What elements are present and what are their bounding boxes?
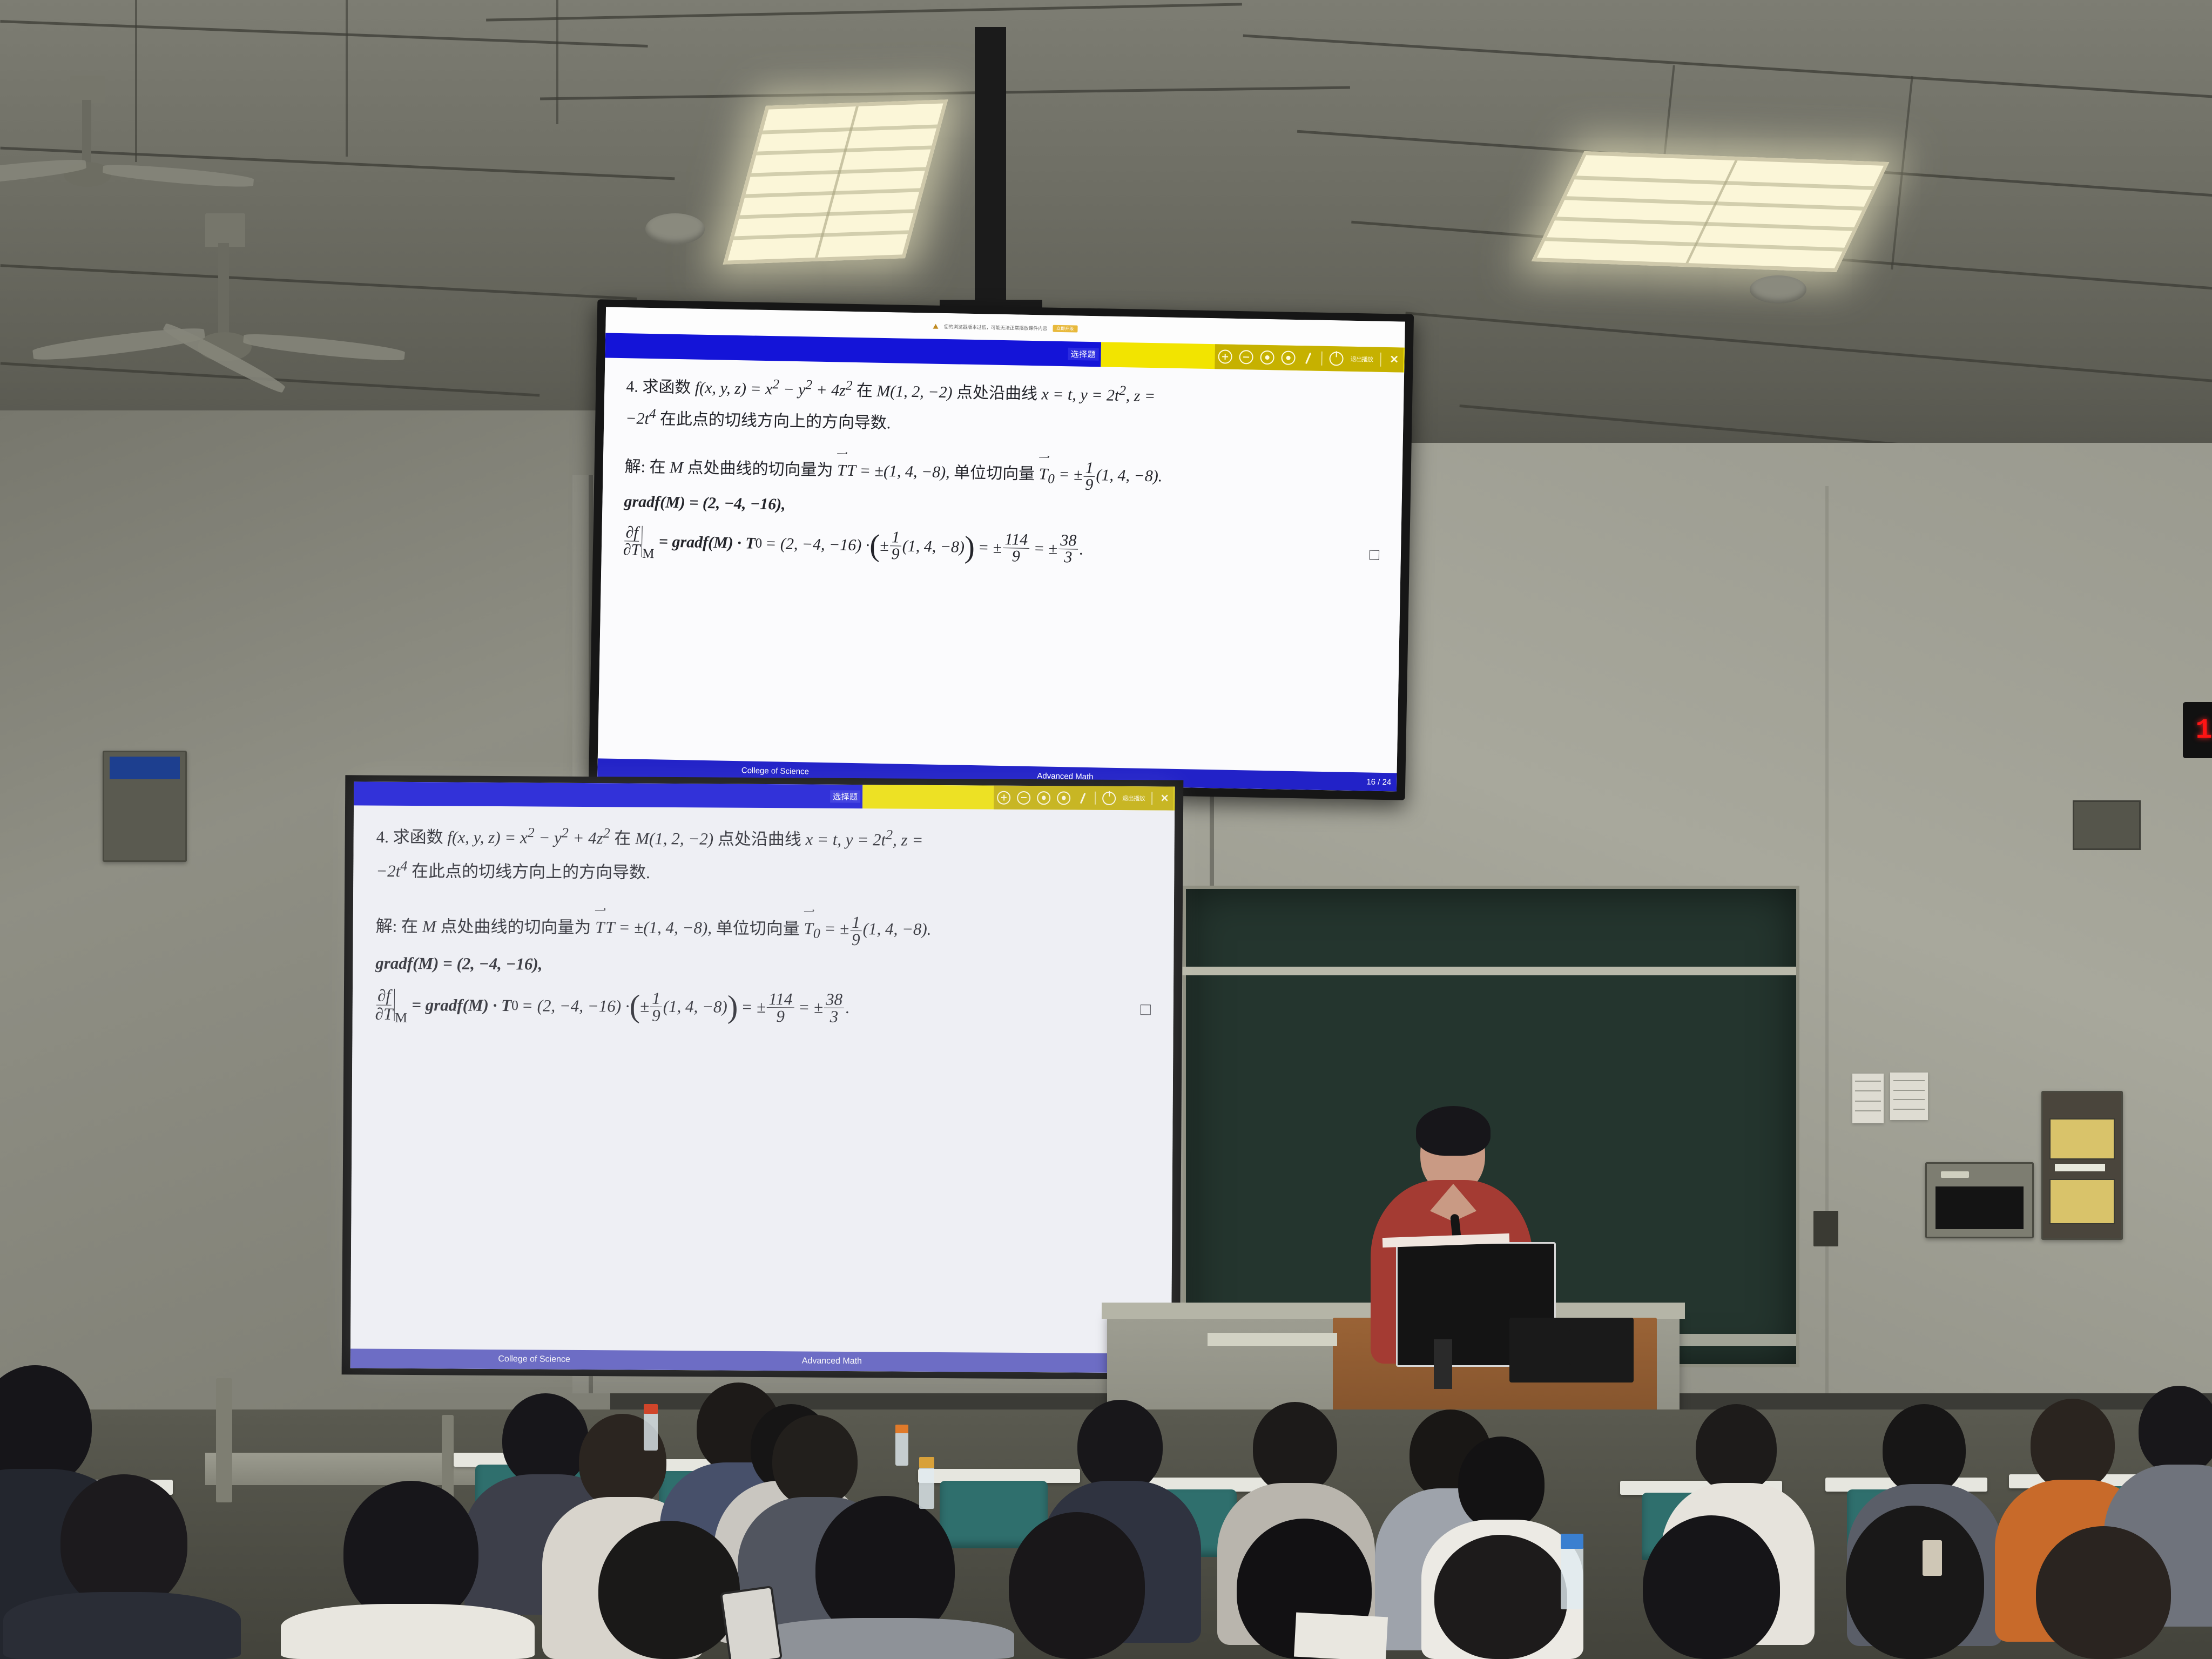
problem-line-2: −2t4 在此点的切线方向上的方向导数. (376, 856, 1151, 888)
slide-tab-blue[interactable]: 选择题 (354, 781, 863, 808)
notice-stripe (2055, 1164, 2105, 1171)
footer-center: Advanced Math (802, 1356, 862, 1366)
sol-text-c: 单位切向量 (716, 919, 800, 938)
ceiling-speaker (1750, 275, 1806, 304)
solution-line-1: 解: 在 M 点处曲线的切向量为 T T = ±(1, 4, −8), 单位切向… (375, 911, 1151, 949)
slide-content: 4. 求函数 f(x, y, z) = x2 − y2 + 4z2 在 M(1,… (350, 805, 1175, 1353)
control-box-label (110, 757, 180, 779)
frac-den: 9 (1083, 477, 1095, 493)
ceiling-speaker (645, 213, 705, 245)
projected-slide: 选择题 退出播放 ✕ (350, 781, 1175, 1373)
notice-label (2049, 1179, 2115, 1224)
unit-tangent-tail: (1, 4, −8). (863, 919, 932, 939)
function-def-3: + 4z (816, 381, 846, 400)
sol-M: M (670, 458, 684, 476)
tab-label[interactable]: 选择题 (1068, 348, 1099, 361)
footer-left: College of Science (498, 1354, 570, 1365)
next-icon[interactable] (1057, 791, 1070, 805)
pen-icon[interactable] (1077, 792, 1088, 804)
unit-tangent-T: T (1038, 463, 1048, 487)
unit-tangent-sub: 0 (813, 926, 820, 941)
bottle-cap (644, 1404, 658, 1414)
partial-derivative: ∂f ∂T (623, 524, 641, 559)
slide-toolbar-strip: 退出播放 ✕ (862, 785, 1175, 811)
unit-tangent-eq: = ± (824, 919, 849, 938)
problem-text-a: 求函数 (393, 827, 443, 847)
ceiling-tv: 您的浏览器版本过低，可能无法正常播放课件内容 立即升级 I 选择题 (589, 299, 1414, 800)
lecture-hall-scene: 1 您的浏览器版本过低，可能无法正常播放课件内容 立即升级 I 选择题 (0, 0, 2212, 1659)
ceiling-light-fixture (1532, 151, 1890, 272)
water-bottle (644, 1413, 658, 1451)
problem-text-d: 在此点的切线方向上的方向导数. (660, 410, 891, 432)
exit-label[interactable]: 退出播放 (1350, 355, 1373, 364)
sol-text-b: 点处曲线的切向量为 (440, 916, 591, 936)
zoom-in-icon[interactable] (1218, 349, 1232, 363)
power-icon[interactable] (1102, 791, 1116, 805)
slide-content: 4. 求函数 f(x, y, z) = x2 − y2 + 4z2 在 M(1,… (598, 358, 1404, 773)
bottle-cap (919, 1457, 934, 1468)
water-bottle (1923, 1540, 1942, 1576)
wall-terminal-box[interactable] (1925, 1162, 2034, 1238)
frac-num: 1 (850, 914, 862, 931)
tangent-vector: T = ±(1, 4, −8), (847, 462, 950, 481)
eval-at-M: M (642, 544, 655, 564)
footer-page: 16 / 24 (1366, 777, 1391, 787)
bottle-cap (1561, 1534, 1583, 1549)
toolbar-separator (1095, 792, 1096, 805)
partial-derivative: ∂f ∂T (375, 987, 393, 1023)
notification-message: 您的浏览器版本过低，可能无法正常播放课件内容 (944, 322, 1048, 332)
tab-label[interactable]: 选择题 (830, 790, 861, 802)
text-cursor-icon: I (1069, 326, 1071, 332)
deriv-eq1: = gradf(M) · T (412, 993, 511, 1018)
close-icon[interactable]: ✕ (1159, 793, 1170, 804)
problem-number: 4. (626, 377, 638, 395)
deriv-eq2: = (2, −4, −16) · (522, 994, 630, 1019)
projection-screen: 选择题 退出播放 ✕ (350, 781, 1175, 1373)
sol-M: M (422, 916, 436, 935)
toolbar-separator (1380, 353, 1381, 366)
previous-icon[interactable] (1260, 350, 1274, 365)
curve-z: −2t (376, 861, 400, 880)
chalk-rail (1181, 967, 1796, 975)
unit-tangent-eq: = ± (1058, 466, 1083, 484)
problem-text-a: 求函数 (642, 378, 691, 397)
wall-outlet[interactable] (1813, 1211, 1838, 1246)
problem-text-d: 在此点的切线方向上的方向导数. (412, 862, 650, 882)
toolbar-separator (1151, 792, 1152, 805)
power-icon[interactable] (1329, 352, 1343, 366)
slide-toolbar: 退出播放 ✕ (1215, 344, 1404, 372)
posted-notice (1890, 1073, 1928, 1120)
tv-slide: 选择题 退出播放 ✕ (597, 333, 1405, 792)
notice-label (2049, 1118, 2115, 1159)
curve-z: −2t (625, 409, 649, 428)
solution-label: 解: (624, 458, 645, 476)
previous-icon[interactable] (1037, 791, 1050, 805)
function-def-3: + 4z (572, 828, 603, 847)
curve-def-2: , z = (893, 831, 923, 849)
lecturer-hair (1416, 1106, 1491, 1156)
next-icon[interactable] (1281, 350, 1295, 365)
upgrade-button[interactable]: 立即升级 (1053, 325, 1077, 332)
gradient-line: gradf(M) = (2, −4, −16), (375, 951, 1151, 980)
terminal-display (1935, 1186, 2024, 1229)
unit-tangent-tail: (1, 4, −8). (1096, 467, 1162, 485)
slide-toolbar: 退出播放 ✕ (994, 786, 1174, 811)
zoom-out-icon[interactable] (1239, 350, 1253, 364)
function-def: f(x, y, z) = x (447, 828, 528, 847)
footer-left: College of Science (741, 766, 809, 776)
terminal-strip (1941, 1171, 1969, 1178)
problem-number: 4. (376, 827, 389, 846)
problem-text-b: 在 (857, 382, 873, 400)
unit-tangent-sub: 0 (1048, 472, 1055, 487)
point-M: M(1, 2, −2) (635, 829, 713, 848)
sol-text-a: 在 (401, 916, 418, 935)
wall-notice-box (2041, 1091, 2123, 1240)
function-def-2: − y (538, 828, 562, 847)
problem-line-1: 4. 求函数 f(x, y, z) = x2 − y2 + 4z2 在 M(1,… (376, 822, 1152, 854)
function-def: f(x, y, z) = x (695, 379, 773, 399)
zoom-in-icon[interactable] (997, 791, 1010, 804)
deriv-eq2: = (2, −4, −16) · (765, 532, 870, 557)
problem-text-c: 点处沿曲线 (718, 829, 801, 849)
derivative-line: ∂f ∂T M = gradf(M) · T0 = (2, −4, −16) ·… (623, 519, 1379, 577)
sol-text-c: 单位切向量 (954, 464, 1035, 483)
wall-control-box[interactable] (103, 751, 187, 862)
podium-shelf (1208, 1333, 1337, 1346)
point-M: M(1, 2, −2) (876, 382, 953, 402)
aisle-railing (216, 1378, 232, 1502)
monitor-stand (1434, 1339, 1452, 1389)
wall-sign (2073, 800, 2141, 850)
exit-label[interactable]: 退出播放 (1122, 794, 1145, 802)
student-notebook (1294, 1613, 1388, 1659)
tangent-vector: T = ±(1, 4, −8), (605, 918, 712, 937)
function-def-2: − y (783, 381, 806, 399)
eval-at-M: M (395, 1008, 407, 1028)
derivative-line: ∂f ∂T M = gradf(M) · T0 = (2, −4, −16) ·… (375, 982, 1151, 1033)
tv-mount-pole (975, 27, 1006, 308)
problem-text-b: 在 (614, 829, 631, 848)
student-phone (720, 1586, 783, 1659)
digital-clock: 1 (2183, 702, 2212, 758)
problem-text-c: 点处沿曲线 (956, 383, 1038, 403)
clock-digits: 1 (2195, 714, 2212, 746)
sol-text-a: 在 (649, 458, 666, 476)
deriv-eq1: = gradf(M) · T (659, 530, 756, 555)
tv-screen: 您的浏览器版本过低，可能无法正常播放课件内容 立即升级 I 选择题 (597, 307, 1405, 792)
unit-tangent-T: T (804, 917, 813, 941)
frac-num: 1 (1084, 460, 1096, 477)
water-bottle (895, 1432, 908, 1466)
curve-def-2: , z = (1125, 387, 1155, 405)
pen-icon[interactable] (1302, 352, 1314, 364)
water-bottle (919, 1467, 934, 1509)
curve-def: x = t, y = 2t (805, 830, 886, 849)
solution-line-1: 解: 在 M 点处曲线的切向量为 T T = ±(1, 4, −8), 单位切向… (624, 451, 1381, 498)
sol-text-b: 点处曲线的切向量为 (687, 459, 833, 480)
frac-den: 9 (850, 931, 862, 948)
toolbar-separator (1321, 352, 1322, 365)
curve-def: x = t, y = 2t (1041, 385, 1119, 404)
podium-device-handle (1569, 1328, 1628, 1365)
zoom-out-icon[interactable] (1017, 791, 1030, 804)
water-bottle (1561, 1546, 1583, 1609)
bottle-cap (895, 1425, 908, 1433)
close-icon[interactable]: ✕ (1388, 354, 1400, 366)
solution-label: 解: (376, 916, 397, 935)
warning-triangle-icon (933, 323, 939, 328)
qed-box (1141, 1004, 1151, 1015)
ceiling-light-fixture (723, 99, 948, 264)
qed-box (1370, 550, 1379, 559)
posted-notice (1852, 1074, 1884, 1123)
